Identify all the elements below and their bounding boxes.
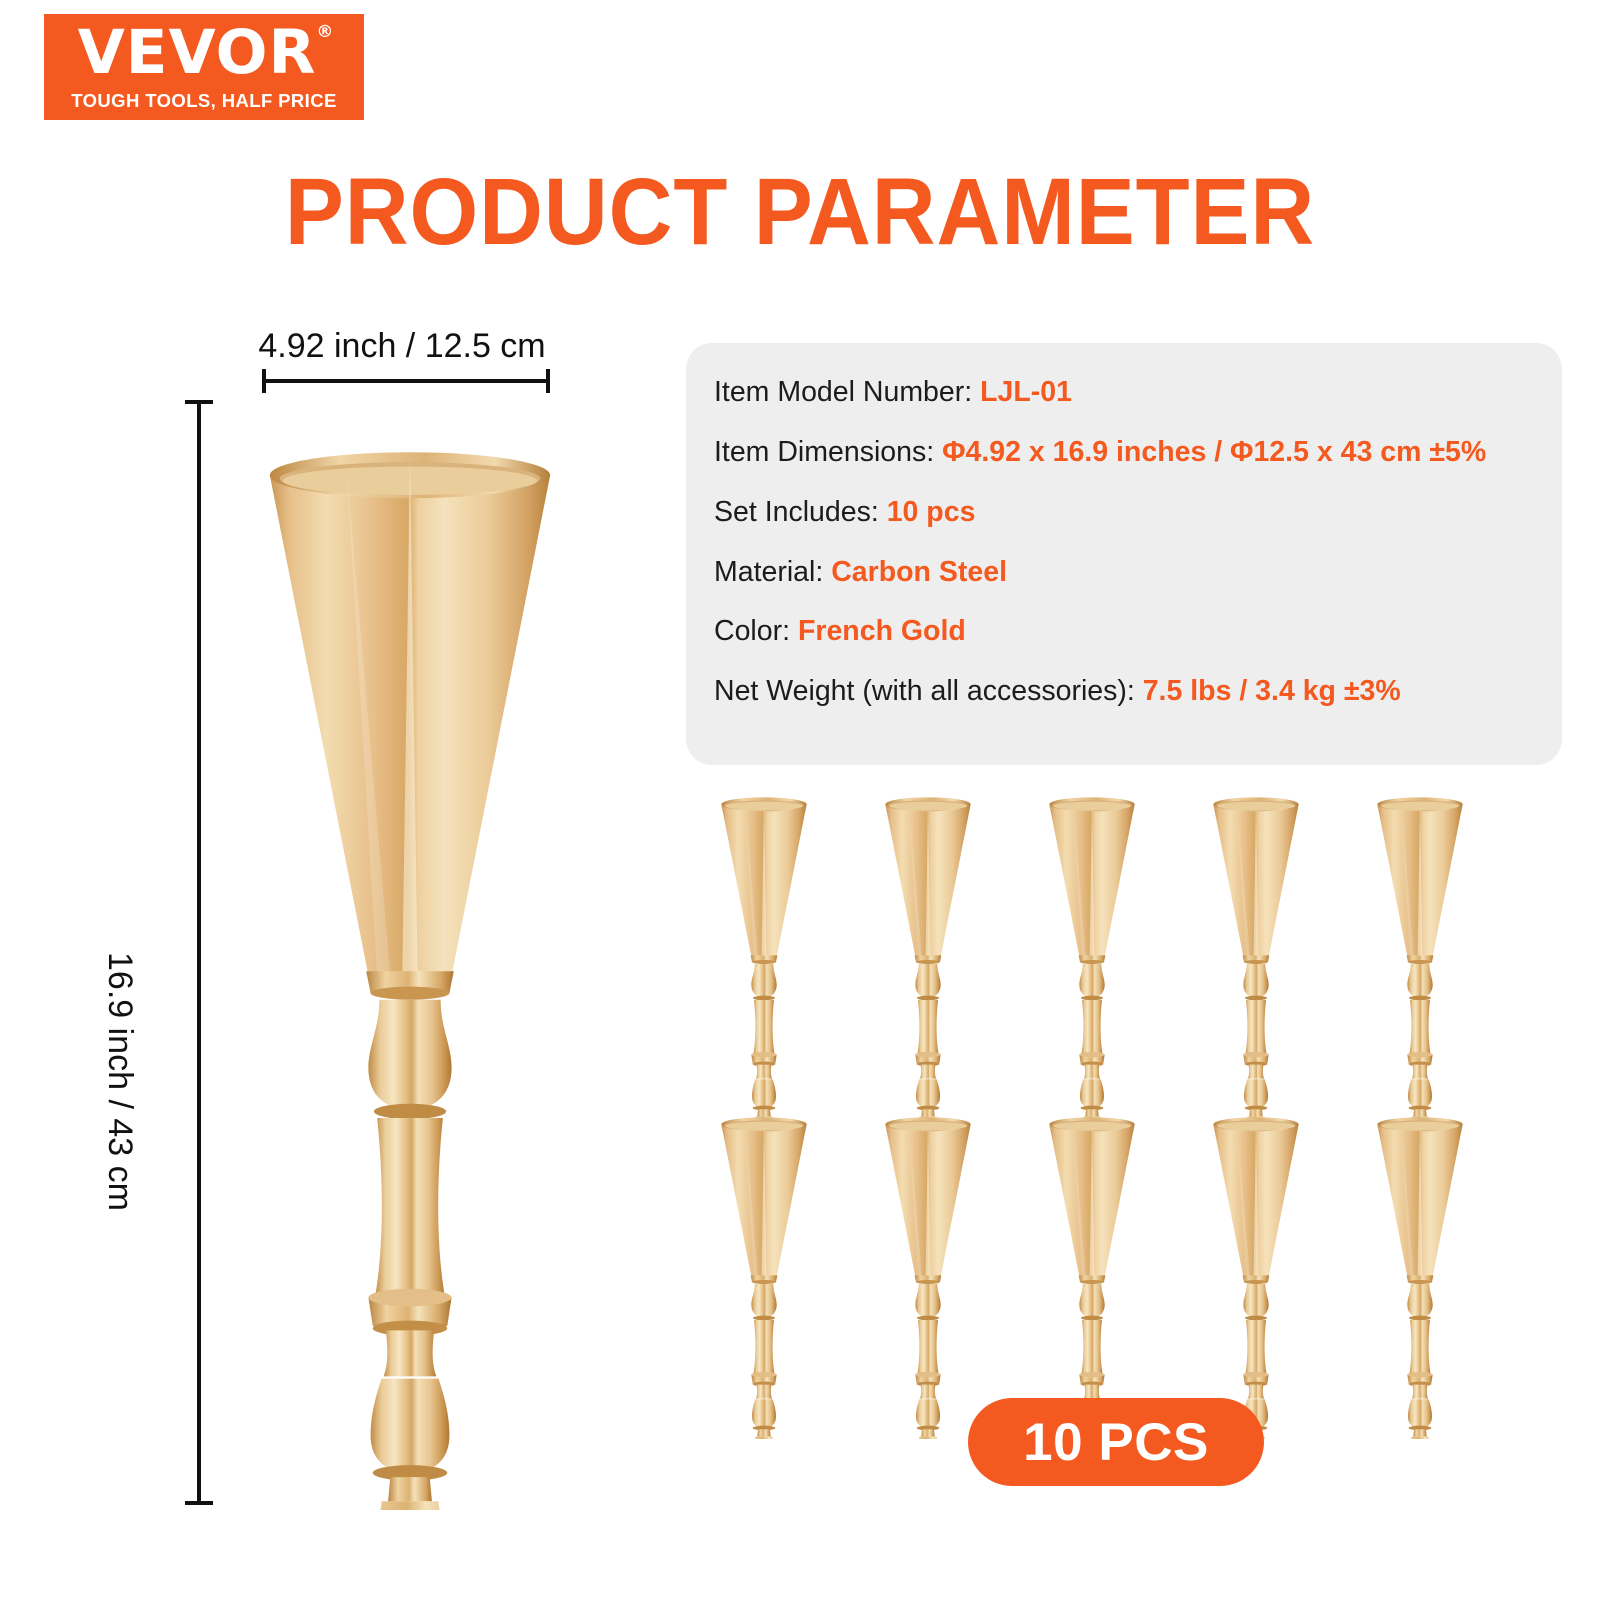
product-parameter-infographic: VEVOR ® TOUGH TOOLS, HALF PRICE PRODUCT … (0, 0, 1600, 1600)
spec-value-net-weight: 7.5 lbs / 3.4 kg ±3% (1143, 675, 1401, 707)
spec-value-color: French Gold (798, 615, 966, 647)
product-image-small-vase (1370, 1106, 1470, 1356)
spec-row-net-weight: Net Weight (with all accessories): 7.5 l… (714, 676, 1562, 707)
spec-label-dimensions: Item Dimensions: (714, 436, 942, 468)
spec-row-set-includes: Set Includes: 10 pcs (714, 497, 1562, 528)
product-image-small-vase (1042, 786, 1142, 1036)
product-image-small-vase (1206, 786, 1306, 1036)
spec-value-material: Carbon Steel (831, 556, 1007, 588)
vevor-logo: VEVOR ® TOUGH TOOLS, HALF PRICE (44, 14, 364, 120)
product-image-small-vase (878, 786, 978, 1036)
product-image-small-vase (714, 786, 814, 1036)
width-dimension-label: 4.92 inch / 12.5 cm (232, 327, 572, 366)
brand-wordmark: VEVOR ® (78, 22, 331, 83)
height-dimension-cap-bottom (185, 1501, 213, 1505)
brand-name: VEVOR (78, 17, 317, 88)
page-title: PRODUCT PARAMETER (56, 158, 1544, 267)
spec-value-set-includes: 10 pcs (887, 496, 976, 528)
spec-row-dimensions: Item Dimensions: Φ4.92 x 16.9 inches / Φ… (714, 437, 1562, 468)
width-dimension-cap-right (546, 369, 550, 393)
height-dimension-cap-top (185, 400, 213, 404)
spec-value-model: LJL-01 (980, 376, 1072, 408)
spec-label-net-weight: Net Weight (with all accessories): (714, 675, 1143, 707)
product-image-small-vase (878, 1106, 978, 1356)
spec-label-material: Material: (714, 556, 831, 588)
spec-value-dimensions: Φ4.92 x 16.9 inches / Φ12.5 x 43 cm ±5% (942, 436, 1486, 468)
product-image-small-vase (1042, 1106, 1142, 1356)
quantity-badge: 10 PCS (968, 1398, 1264, 1486)
specification-panel: Item Model Number: LJL-01 Item Dimension… (686, 343, 1562, 765)
brand-tagline: TOUGH TOOLS, HALF PRICE (71, 90, 336, 112)
spec-label-set-includes: Set Includes: (714, 496, 887, 528)
product-image-small-vase (1206, 1106, 1306, 1356)
height-dimension-line (197, 400, 201, 1505)
spec-row-material: Material: Carbon Steel (714, 557, 1562, 588)
spec-label-model: Item Model Number: (714, 376, 980, 408)
height-dimension-label: 16.9 inch / 43 cm (100, 952, 139, 1211)
spec-row-model: Item Model Number: LJL-01 (714, 377, 1562, 408)
product-image-small-vase (1370, 786, 1470, 1036)
product-image-main-vase (245, 415, 575, 1510)
width-dimension-cap-left (262, 369, 266, 393)
spec-row-color: Color: French Gold (714, 616, 1562, 647)
spec-label-color: Color: (714, 615, 798, 647)
product-image-small-vase (714, 1106, 814, 1356)
registered-trademark-icon: ® (316, 24, 334, 41)
product-set-grid (700, 780, 1560, 1350)
width-dimension-line (262, 379, 550, 383)
